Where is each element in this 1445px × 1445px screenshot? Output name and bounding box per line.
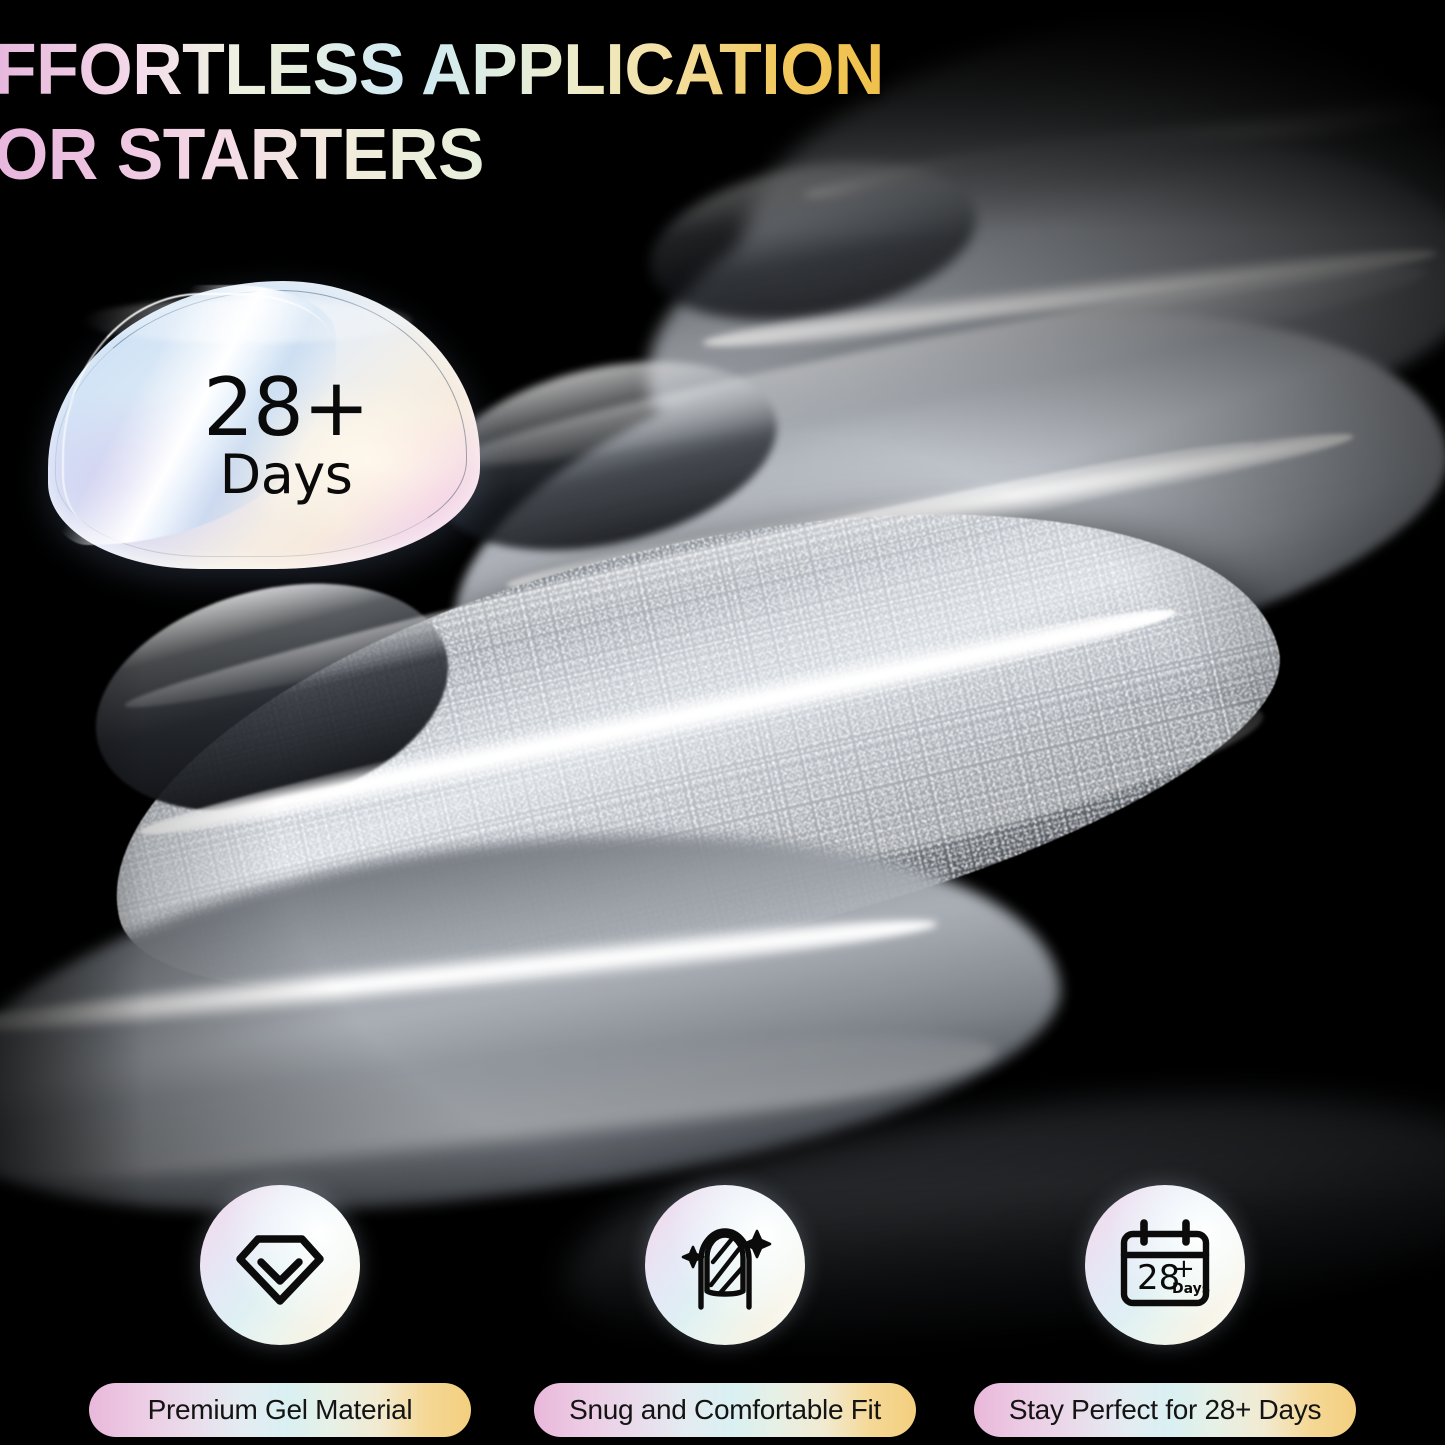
28-plus-days-badge: 28+ Days [48, 281, 480, 569]
feature-label-pill: Snug and Comfortable Fit [534, 1383, 916, 1437]
badge-number: 28+ [203, 370, 369, 445]
badge-text-group: 28+ Days [48, 281, 480, 569]
feature-label-text: Premium Gel Material [148, 1394, 413, 1426]
headline-line-2: OR STARTERS [0, 121, 884, 190]
feature-badge-row: Premium Gel Material [0, 1195, 1445, 1445]
gem-diamond-icon [200, 1185, 360, 1345]
feature-label-pill: Premium Gel Material [89, 1383, 471, 1437]
svg-text:+: + [1173, 1254, 1195, 1284]
calendar-28-days-icon: 28 + Days [1085, 1185, 1245, 1345]
badge-unit: Days [220, 448, 353, 502]
headline-line-1: FFORTLESS APPLICATION [0, 36, 884, 105]
nail-sparkle-icon [645, 1185, 805, 1345]
headline: FFORTLESS APPLICATION OR STARTERS [0, 36, 911, 190]
feature-label-pill: Stay Perfect for 28+ Days [974, 1383, 1356, 1437]
feature-label-text: Stay Perfect for 28+ Days [1009, 1394, 1321, 1426]
product-image-stage: FFORTLESS APPLICATION OR STARTERS 28+ Da… [0, 0, 1445, 1445]
feature-label-text: Snug and Comfortable Fit [569, 1394, 881, 1426]
svg-text:Days: Days [1172, 1281, 1210, 1297]
